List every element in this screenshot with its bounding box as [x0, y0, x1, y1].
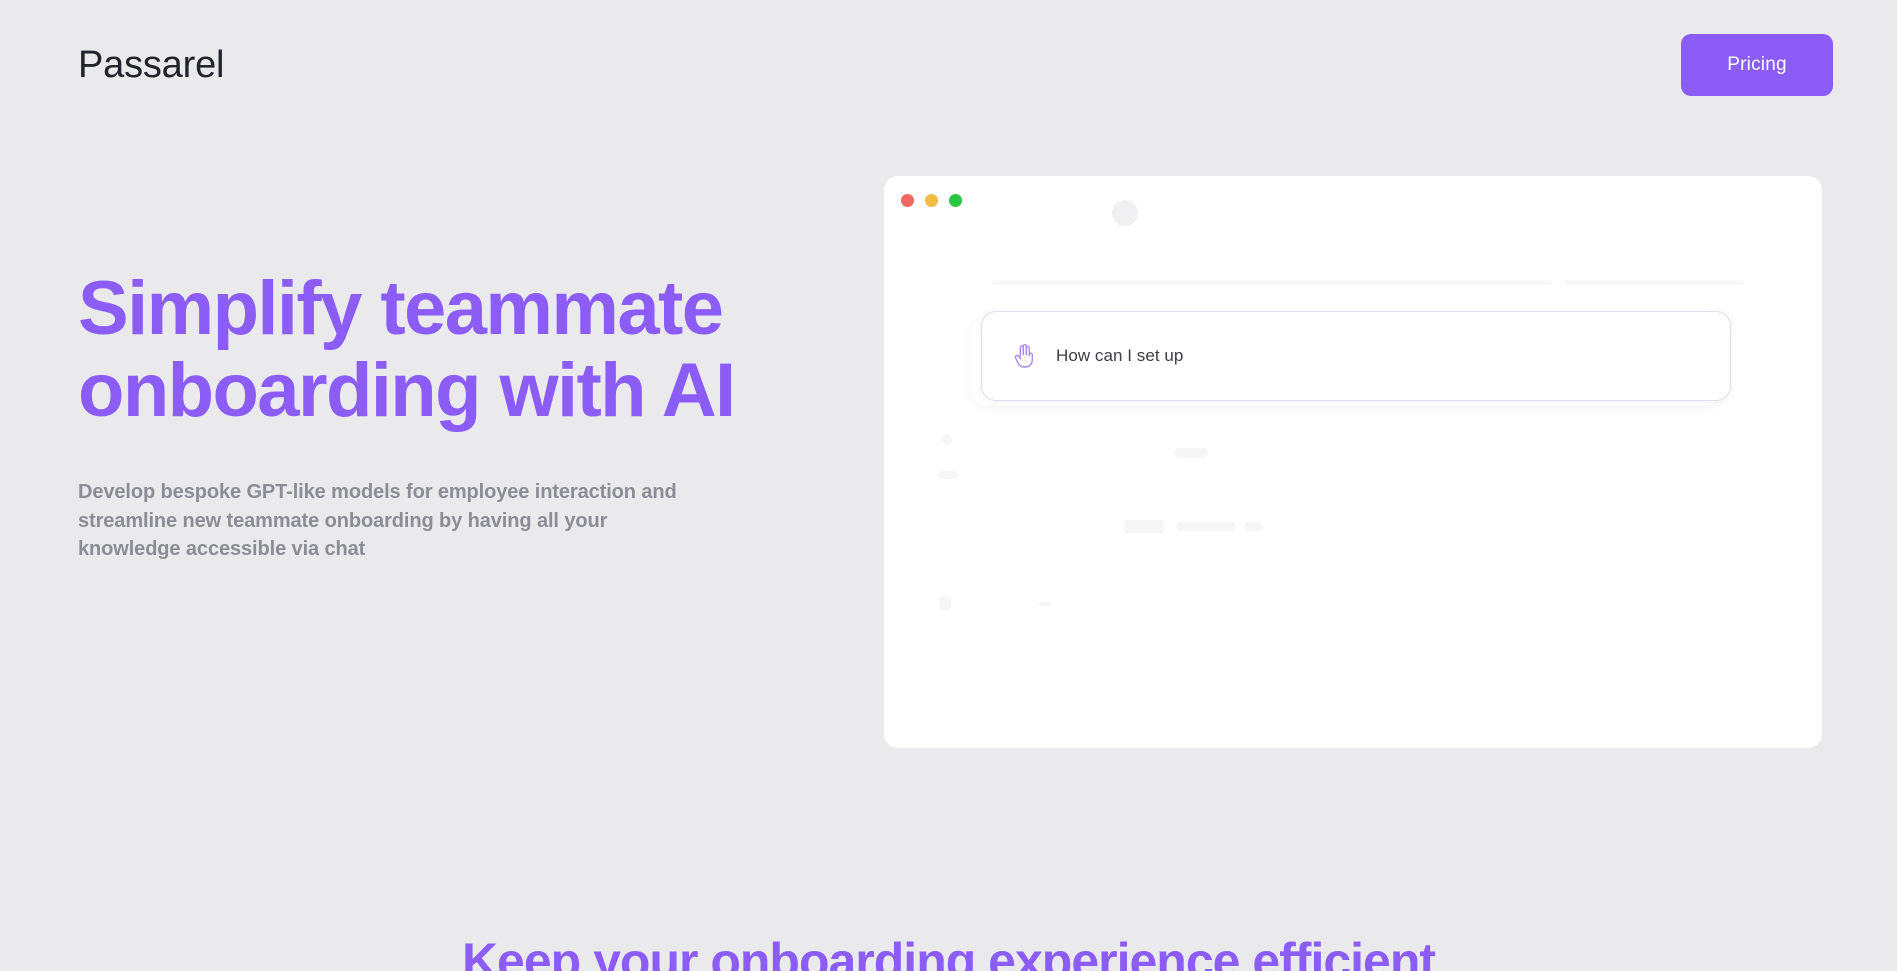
hero-title-line-1: Simplify teammate	[78, 268, 898, 350]
ghost-line	[939, 471, 957, 479]
ghost-dot	[942, 434, 952, 444]
close-dot-icon[interactable]	[901, 194, 914, 207]
ghost-line	[1244, 522, 1262, 531]
chat-prompt-card[interactable]: How can I set up	[982, 312, 1730, 400]
ghost-line	[1174, 448, 1208, 458]
raised-hand-icon	[1012, 343, 1036, 369]
ghost-block	[939, 596, 951, 610]
site-header: Passarel Pricing	[0, 0, 1897, 130]
avatar	[1112, 200, 1138, 226]
landing-page: Passarel Pricing Simplify teammate onboa…	[0, 0, 1897, 971]
ghost-line	[1039, 602, 1051, 606]
brand-logo[interactable]: Passarel	[78, 46, 224, 84]
hero-subtitle-line-1: Develop bespoke GPT-like models for empl…	[78, 478, 848, 506]
pricing-button[interactable]: Pricing	[1681, 34, 1833, 96]
section-heading: Keep your onboarding experience efficien…	[0, 934, 1897, 971]
ghost-line	[1176, 522, 1236, 531]
hero-title-line-2: onboarding with AI	[78, 350, 898, 432]
page-title: Simplify teammate onboarding with AI	[78, 268, 898, 432]
hero-subtitle-line-3: knowledge accessible via chat	[78, 535, 848, 563]
maximize-dot-icon[interactable]	[949, 194, 962, 207]
window-controls	[901, 194, 962, 207]
hero-subtitle-line-2: streamline new teammate onboarding by ha…	[78, 507, 848, 535]
hero-copy: Simplify teammate onboarding with AI Dev…	[78, 268, 898, 563]
hero-subtitle: Develop bespoke GPT-like models for empl…	[78, 478, 848, 563]
ghost-block	[1124, 520, 1164, 533]
app-preview-window	[884, 176, 1822, 748]
minimize-dot-icon[interactable]	[925, 194, 938, 207]
ghost-line	[992, 280, 1552, 285]
window-titlebar	[884, 176, 1822, 234]
ghost-line	[1564, 280, 1744, 285]
chat-prompt-text: How can I set up	[1056, 346, 1183, 366]
